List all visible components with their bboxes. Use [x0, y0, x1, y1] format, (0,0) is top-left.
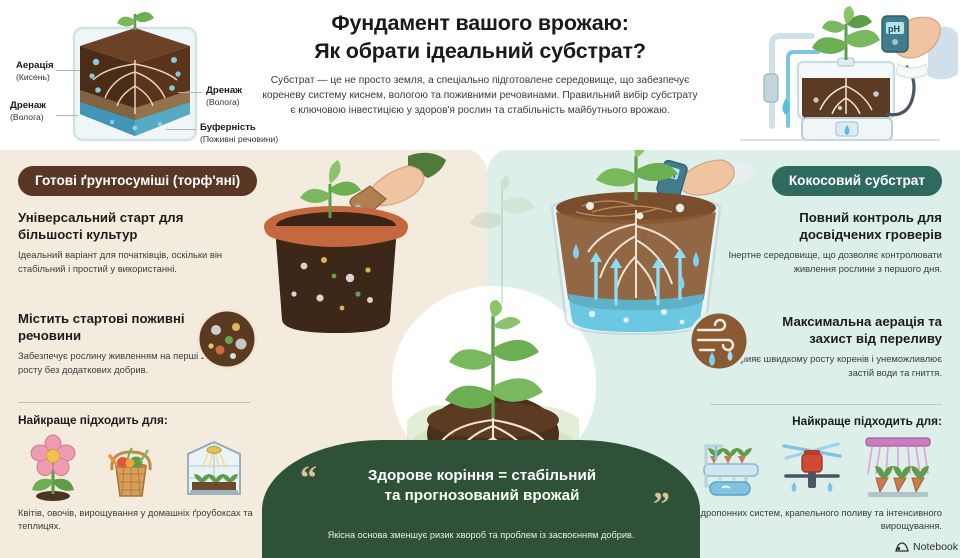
watermark-text: Notebook — [913, 541, 958, 553]
left-best-for-title: Найкраще підходить для: — [18, 413, 168, 427]
grow-light-icon — [858, 430, 938, 502]
page-subtitle: Субстрат — це не просто земля, а спеціал… — [262, 74, 698, 119]
left-divider — [18, 402, 250, 403]
hydroponics-illustration: pH — [700, 2, 958, 148]
leader-aeration — [56, 70, 80, 71]
nutrient-particles-icon — [196, 308, 258, 370]
leader-buffering — [166, 129, 196, 130]
left-best-for-icons — [22, 432, 250, 502]
quote-subtext: Якісна основа зменшує ризик хвороб та пр… — [270, 530, 692, 542]
right-best-for-title: Найкраще підходить для: — [792, 414, 942, 428]
quote-banner: “ ” Здорове коріння = стабільний та прог… — [262, 440, 700, 558]
drip-irrigation-icon — [778, 430, 846, 502]
page-title-line-1: Фундамент вашого врожаю: — [262, 10, 698, 38]
notebooklm-logo-icon — [895, 540, 909, 554]
quote-inner: “ ” Здорове коріння = стабільний та прог… — [262, 440, 700, 558]
leader-drainage-left — [56, 115, 78, 116]
svg-text:pH: pH — [888, 24, 900, 34]
right-panel-badge: Кокосовий субстрат — [772, 166, 942, 196]
left-feature-1: Універсальний старт для більшості культу… — [18, 210, 238, 275]
left-feature-1-body: Ідеальний варіант для початківців, оскіл… — [18, 248, 238, 275]
label-buffering: Буферність (Поживні речовини) — [200, 122, 278, 144]
watermark: Notebook — [895, 540, 958, 554]
label-drainage-left: Дренаж (Волога) — [10, 100, 46, 122]
left-feature-1-heading: Універсальний старт для більшості культу… — [18, 210, 238, 243]
title-block: Фундамент вашого врожаю: Як обрати ідеал… — [262, 10, 698, 119]
left-panel-badge: Готові ґрунтосуміші (торф'яні) — [18, 166, 257, 196]
label-drainage-right: Дренаж (Волога) — [206, 85, 242, 107]
aeration-drainage-icon — [688, 310, 750, 372]
hydroponics-system-icon — [694, 430, 766, 502]
right-best-for-icons — [694, 430, 938, 502]
header: Аерація (Кисень) Дренаж (Волога) Дренаж … — [0, 0, 960, 150]
quote-text: Здорове коріння = стабільний та прогнозо… — [304, 466, 660, 506]
greenhouse-icon — [178, 432, 250, 502]
leader-drainage-right — [178, 92, 202, 93]
right-best-for-caption: Гідропонних систем, крапельного поливу т… — [692, 506, 942, 533]
infographic-root: Готові ґрунтосуміші (торф'яні) Універсал… — [0, 0, 960, 558]
label-aeration: Аерація (Кисень) — [16, 60, 54, 82]
right-divider — [710, 404, 942, 405]
flower-icon — [22, 432, 84, 502]
page-title-line-2: Як обрати ідеальний субстрат? — [262, 38, 698, 66]
left-best-for-caption: Квітів, овочів, вирощування у домашніх ґ… — [18, 506, 258, 533]
vegetable-basket-icon — [96, 432, 166, 502]
background-plant-decoration — [462, 176, 542, 306]
